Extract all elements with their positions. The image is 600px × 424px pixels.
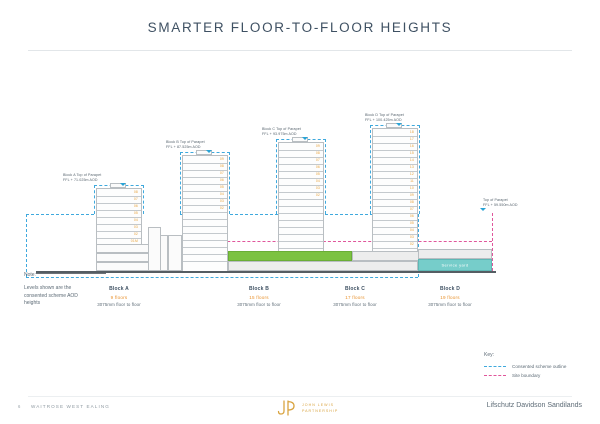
floor-label: 05 bbox=[134, 212, 138, 215]
floor-label: 03 bbox=[316, 187, 320, 190]
floor-label: 13 bbox=[410, 166, 414, 169]
level-marker-podium bbox=[480, 208, 486, 211]
site-boundary-vertical-right bbox=[492, 213, 493, 271]
level-marker-block-b bbox=[206, 150, 212, 153]
caption-block-b: Block B 15 floors 3075mm floor to floor bbox=[204, 286, 314, 307]
floor-label: 06 bbox=[316, 166, 320, 169]
floor-label: 03 bbox=[134, 226, 138, 229]
floor-label: 02 bbox=[316, 194, 320, 197]
floor-label: 07 bbox=[220, 172, 224, 175]
block-ftf: 3075mm floor to floor bbox=[204, 302, 314, 307]
level-marker-block-a bbox=[120, 183, 126, 186]
floor-label: 05 bbox=[220, 186, 224, 189]
annotation-block-b-parapet: Block B Top of Parapet FFL + 87.525m AOD bbox=[166, 140, 205, 150]
annotation-block-c-parapet: Block C Top of Parapet FFL + 93.975m AOD bbox=[262, 127, 301, 137]
floor-label: 08 bbox=[316, 152, 320, 155]
floor-label: 18 bbox=[410, 131, 414, 134]
annotation-line-2: FFL + 87.525m AOD bbox=[166, 145, 205, 150]
block-floors: 9 floors bbox=[64, 295, 174, 300]
floor-label: 08 bbox=[220, 165, 224, 168]
logo-line-2: PARTNERSHIP bbox=[302, 408, 338, 414]
floor-label: 15 bbox=[410, 152, 414, 155]
floor-label: 04 bbox=[134, 219, 138, 222]
floor-label: 05 bbox=[316, 173, 320, 176]
annotation-line-2: FFL + 71.025m AOD bbox=[63, 178, 101, 183]
caption-block-a: Block A 9 floors 3075mm floor to floor bbox=[64, 286, 174, 307]
key-item-consented: Consented scheme outline bbox=[484, 364, 566, 369]
block-name: Block A bbox=[64, 286, 174, 292]
service-yard: Service yard bbox=[418, 259, 492, 271]
annotation-line-2: FFL + 100.425m AOD bbox=[365, 118, 404, 123]
tower-block-b: 09 08 07 06 05 04 03 02 bbox=[182, 155, 228, 271]
level-marker-block-c bbox=[302, 137, 308, 140]
level-marker-block-d bbox=[396, 123, 402, 126]
floor-label: 06 bbox=[410, 215, 414, 218]
floor-label: 09 bbox=[410, 194, 414, 197]
key-label: Consented scheme outline bbox=[512, 364, 566, 369]
key-label: Site boundary bbox=[512, 373, 540, 378]
key-legend: Key: Consented scheme outline Site bound… bbox=[484, 352, 566, 378]
floor-label: 17 bbox=[410, 138, 414, 141]
podium-ground-centre bbox=[228, 261, 418, 271]
consented-outline-top-left bbox=[26, 214, 94, 215]
retail-band bbox=[228, 251, 352, 261]
footer-divider bbox=[28, 396, 572, 397]
page-title: SMARTER FLOOR-TO-FLOOR HEIGHTS bbox=[0, 20, 600, 35]
dotted-line-icon bbox=[484, 375, 506, 376]
floor-label: 02 bbox=[134, 233, 138, 236]
annotation-block-a-parapet: Block A Top of Parapet FFL + 71.025m AOD bbox=[63, 173, 101, 183]
floor-label: 04 bbox=[316, 180, 320, 183]
slide: SMARTER FLOOR-TO-FLOOR HEIGHTS 08 07 06 … bbox=[0, 0, 600, 424]
caption-block-d: Block D 19 floors 3075mm floor to floor bbox=[395, 286, 505, 307]
floor-label: 11 bbox=[410, 180, 414, 183]
floor-label: 06 bbox=[220, 179, 224, 182]
podium-level-01-far-right bbox=[418, 249, 492, 259]
floor-label: 03 bbox=[410, 236, 414, 239]
floor-label: 07 bbox=[410, 208, 414, 211]
floor-label: 04 bbox=[410, 229, 414, 232]
floor-label: 02 bbox=[410, 243, 414, 246]
dashed-line-icon bbox=[484, 366, 506, 367]
page-number: 6 bbox=[18, 404, 21, 409]
annotation-line-2: FFL + 93.975m AOD bbox=[262, 132, 301, 137]
podium-stair-core bbox=[168, 235, 182, 271]
floor-label: 01M bbox=[131, 240, 138, 243]
floor-label: 12 bbox=[410, 173, 414, 176]
podium-lift-core bbox=[148, 227, 161, 271]
block-ftf: 3075mm floor to floor bbox=[395, 302, 505, 307]
annotation-block-d-parapet: Block D Top of Parapet FFL + 100.425m AO… bbox=[365, 113, 404, 123]
block-floors: 19 floors bbox=[395, 295, 505, 300]
floor-label: 07 bbox=[316, 159, 320, 162]
block-floors: 17 floors bbox=[300, 295, 410, 300]
block-ftf: 3075mm floor to floor bbox=[64, 302, 174, 307]
practice-name: Lifschutz Davidson Sandilands bbox=[487, 402, 582, 409]
floor-label: 10 bbox=[410, 187, 414, 190]
floor-label: 14 bbox=[410, 159, 414, 162]
block-ftf: 3075mm floor to floor bbox=[300, 302, 410, 307]
floor-label: 08 bbox=[410, 201, 414, 204]
floor-label: 08 bbox=[134, 191, 138, 194]
annotation-line-2: FFL + 59.550m AOD bbox=[483, 203, 518, 208]
block-name: Block C bbox=[300, 286, 410, 292]
floor-label: 16 bbox=[410, 145, 414, 148]
consented-outline-left bbox=[26, 214, 27, 277]
site-boundary-horizontal bbox=[192, 241, 492, 242]
floor-label: 06 bbox=[134, 205, 138, 208]
floor-label: 09 bbox=[316, 145, 320, 148]
caption-block-c: Block C 17 floors 3075mm floor to floor bbox=[300, 286, 410, 307]
floor-label: 09 bbox=[220, 158, 224, 161]
key-item-boundary: Site boundary bbox=[484, 373, 566, 378]
service-yard-label: Service yard bbox=[419, 263, 491, 268]
annotation-podium-parapet: Top of Parapet FFL + 59.550m AOD bbox=[483, 198, 518, 208]
block-name: Block D bbox=[395, 286, 505, 292]
note-title: Note: bbox=[24, 272, 94, 280]
project-name: WAITROSE WEST EALING bbox=[31, 404, 110, 409]
logo-wordmark: JOHN LEWIS PARTNERSHIP bbox=[302, 402, 338, 414]
tower-block-d: 18 17 16 15 14 13 12 11 10 09 08 07 06 0… bbox=[372, 128, 418, 271]
floor-label: 07 bbox=[134, 198, 138, 201]
floor-label: 05 bbox=[410, 222, 414, 225]
floor-label: 03 bbox=[220, 200, 224, 203]
floor-label: 02 bbox=[220, 207, 224, 210]
key-title: Key: bbox=[484, 352, 566, 358]
podium-level-01-right bbox=[352, 251, 424, 261]
title-divider bbox=[28, 50, 572, 51]
floor-label: 04 bbox=[220, 193, 224, 196]
block-floors: 15 floors bbox=[204, 295, 314, 300]
block-name: Block B bbox=[204, 286, 314, 292]
